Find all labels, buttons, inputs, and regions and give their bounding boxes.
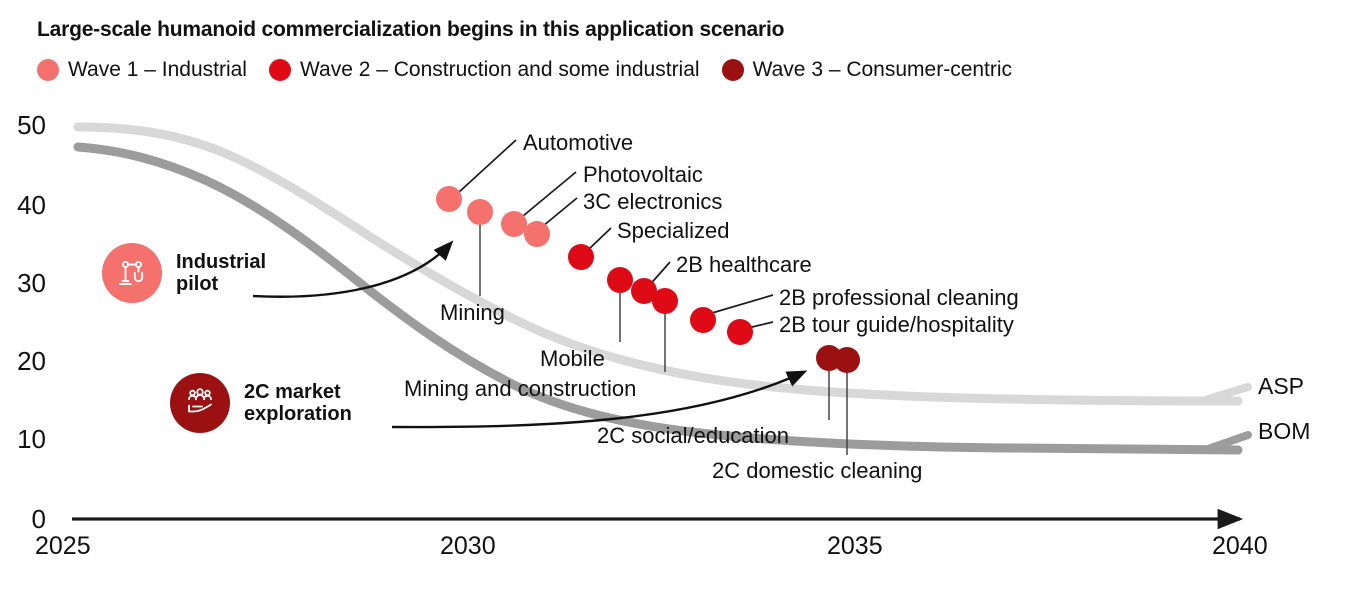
callout-2c-social-education: 2C social/education bbox=[597, 425, 789, 447]
callout-mining: Mining bbox=[440, 302, 505, 324]
callout-photovoltaic: Photovoltaic bbox=[583, 164, 703, 186]
marker-2b-professional-cleaning[interactable] bbox=[690, 307, 716, 333]
badge-industrial-pilot[interactable]: Industrial pilot bbox=[102, 243, 266, 303]
badge-line-2: exploration bbox=[244, 403, 352, 425]
marker-mining[interactable] bbox=[467, 199, 493, 225]
marker-photovoltaic[interactable] bbox=[501, 211, 527, 237]
robot-arm-icon bbox=[102, 243, 162, 303]
marker-2b-tour-guide[interactable] bbox=[727, 319, 753, 345]
badge-line-2: pilot bbox=[176, 273, 218, 295]
leader-photovoltaic bbox=[523, 172, 576, 216]
leader-automotive bbox=[458, 140, 516, 193]
marker-automotive[interactable] bbox=[436, 186, 462, 212]
leader-specialized bbox=[589, 228, 611, 249]
marker-2c-domestic-cleaning[interactable] bbox=[834, 347, 860, 373]
series-end-label-bom: BOM bbox=[1258, 418, 1310, 445]
badge-2c-market-exploration[interactable]: 2C market exploration bbox=[170, 373, 352, 433]
marker-specialized[interactable] bbox=[568, 244, 594, 270]
callout-3c-electronics: 3C electronics bbox=[583, 191, 722, 213]
badge-2c-market-exploration-label: 2C market exploration bbox=[244, 381, 352, 426]
series-end-label-asp: ASP bbox=[1258, 373, 1304, 400]
callout-2b-professional-cleaning: 2B professional cleaning bbox=[779, 287, 1019, 309]
marker-3c-electronics[interactable] bbox=[524, 221, 550, 247]
people-in-hand-icon bbox=[170, 373, 230, 433]
badge-industrial-pilot-label: Industrial pilot bbox=[176, 251, 266, 296]
callout-2b-healthcare: 2B healthcare bbox=[676, 254, 812, 276]
badge-line-1: Industrial bbox=[176, 251, 266, 273]
callout-mining-and-construction: Mining and construction bbox=[404, 378, 636, 400]
callout-2c-domestic-cleaning: 2C domestic cleaning bbox=[712, 460, 922, 482]
leader-2b-professional-cleaning bbox=[712, 295, 773, 313]
badge-line-1: 2C market bbox=[244, 381, 341, 403]
callout-mobile: Mobile bbox=[540, 348, 605, 370]
marker-mining-and-construction[interactable] bbox=[652, 288, 678, 314]
marker-mobile[interactable] bbox=[607, 267, 633, 293]
leader-3c-electronics bbox=[543, 198, 577, 226]
callout-specialized: Specialized bbox=[617, 220, 730, 242]
callout-automotive: Automotive bbox=[523, 132, 633, 154]
callout-2b-tour-guide: 2B tour guide/hospitality bbox=[779, 314, 1014, 336]
